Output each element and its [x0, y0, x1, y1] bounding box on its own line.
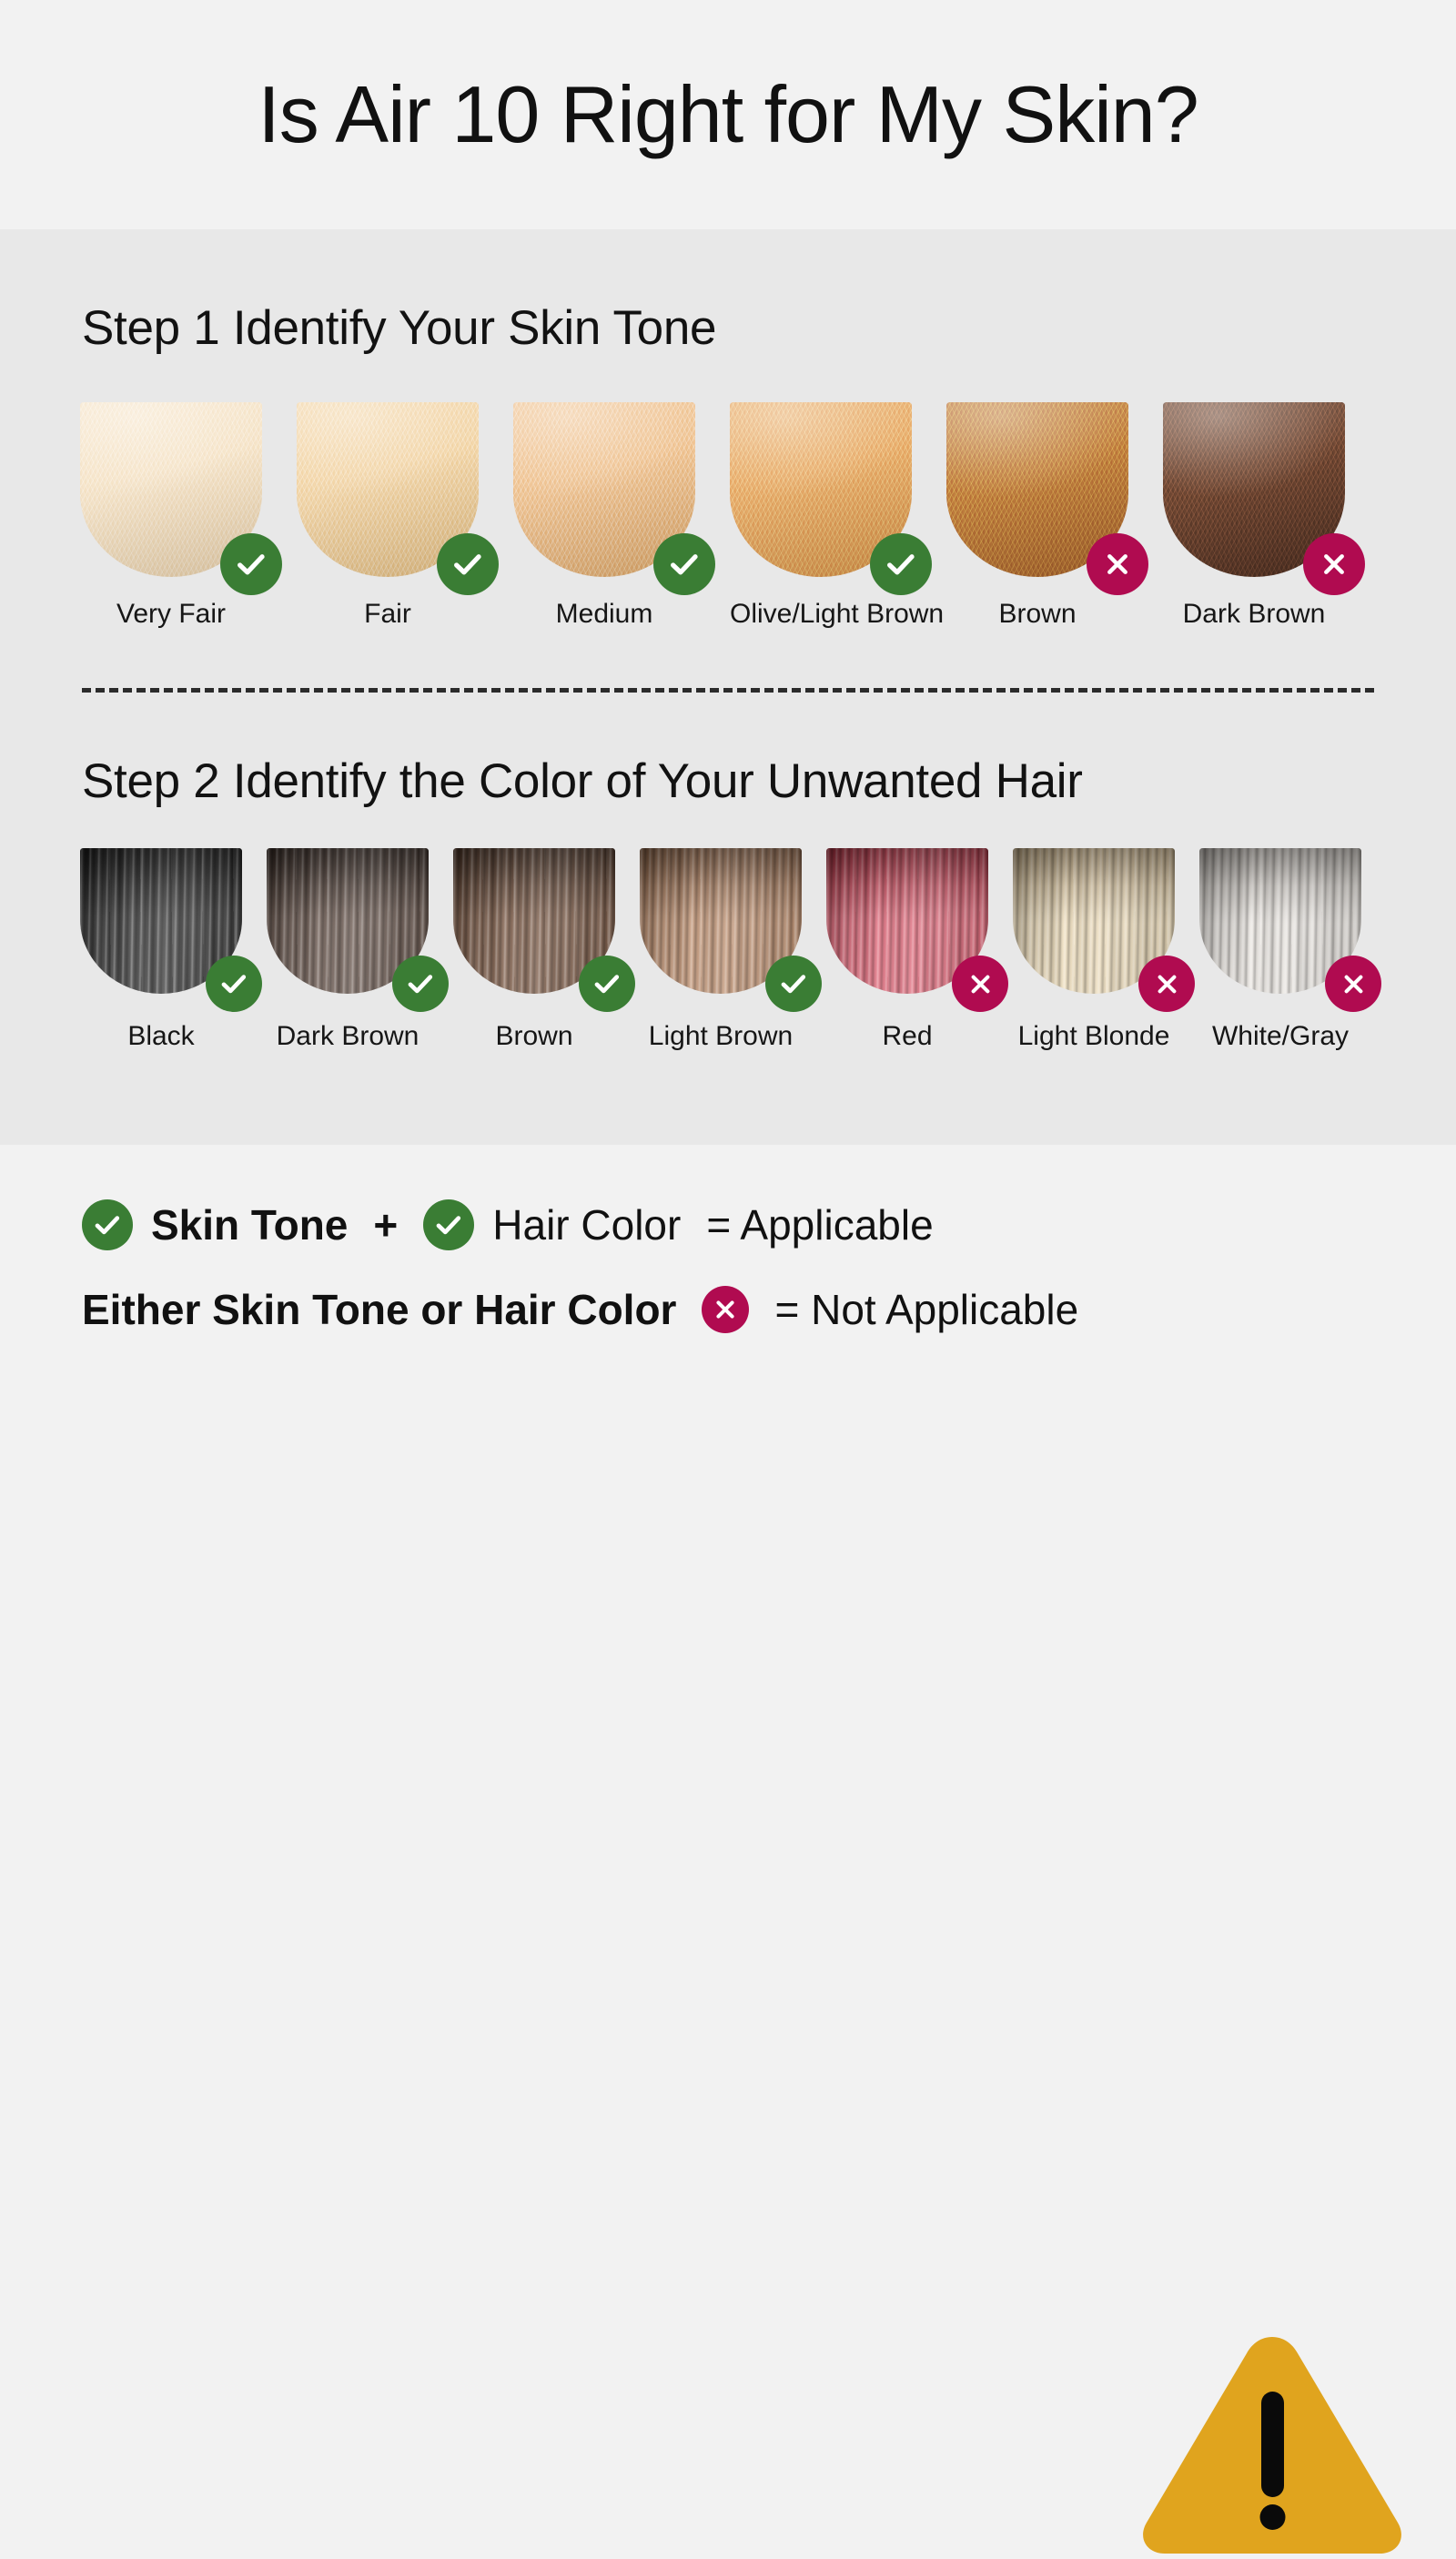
skin-tone-swatch-label: Fair — [297, 599, 479, 630]
skin-tone-swatch-cell[interactable]: Medium — [513, 402, 730, 577]
legend-plus-sign: + — [373, 1200, 398, 1249]
x-icon — [1325, 956, 1381, 1012]
legend-either-label: Either Skin Tone or Hair Color — [82, 1285, 676, 1334]
hair-color-swatch-row: BlackDark BrownBrownLight BrownRedLight … — [0, 848, 1456, 994]
page-title: Is Air 10 Right for My Skin? — [258, 75, 1198, 155]
skin-tone-swatch-label: Brown — [946, 599, 1128, 630]
warning-triangle-icon — [1136, 2311, 1409, 2559]
skin-tone-swatch-label: Medium — [513, 599, 695, 630]
step1-heading: Step 1 Identify Your Skin Tone — [82, 300, 716, 356]
infographic-page: Is Air 10 Right for My Skin? Step 1 Iden… — [0, 0, 1456, 1456]
skin-tone-swatch-cell[interactable]: Fair — [297, 402, 513, 577]
legend: Skin Tone + Hair Color = Applicable Eith… — [82, 1199, 1078, 1334]
x-icon — [1138, 956, 1195, 1012]
check-icon — [392, 956, 449, 1012]
check-icon — [653, 533, 715, 595]
hair-color-swatch-cell[interactable]: Light Brown — [640, 848, 826, 994]
skin-tone-swatch-label: Very Fair — [80, 599, 262, 630]
hair-color-swatch-label: White/Gray — [1199, 1021, 1361, 1052]
hair-color-swatch-cell[interactable]: Dark Brown — [267, 848, 453, 994]
x-icon — [1087, 533, 1148, 595]
check-icon — [220, 533, 282, 595]
legend-not-applicable-result: = Not Applicable — [774, 1285, 1078, 1334]
section-divider — [82, 688, 1374, 693]
check-icon — [206, 956, 262, 1012]
legend-hair-color-label: Hair Color — [492, 1200, 681, 1249]
skin-tone-swatch-cell[interactable]: Brown — [946, 402, 1163, 577]
x-icon — [1303, 533, 1365, 595]
hair-color-swatch-cell[interactable]: Red — [826, 848, 1013, 994]
x-icon — [702, 1286, 749, 1333]
check-icon — [82, 1199, 133, 1250]
legend-applicable-result: = Applicable — [706, 1200, 933, 1249]
skin-tone-swatch-cell[interactable]: Olive/Light Brown — [730, 402, 946, 577]
hair-color-swatch-cell[interactable]: Black — [80, 848, 267, 994]
legend-line-applicable: Skin Tone + Hair Color = Applicable — [82, 1199, 1078, 1250]
legend-skin-tone-label: Skin Tone — [151, 1200, 348, 1249]
skin-tone-swatch-row: Very FairFairMediumOlive/Light BrownBrow… — [0, 402, 1456, 577]
legend-line-not-applicable: Either Skin Tone or Hair Color = Not App… — [82, 1285, 1078, 1334]
hair-color-swatch-label: Brown — [453, 1021, 615, 1052]
legend-footer: Skin Tone + Hair Color = Applicable Eith… — [0, 1145, 1456, 1456]
skin-tone-swatch-cell[interactable]: Very Fair — [80, 402, 297, 577]
check-icon — [437, 533, 499, 595]
hair-color-swatch-cell[interactable]: Light Blonde — [1013, 848, 1199, 994]
step2-heading: Step 2 Identify the Color of Your Unwant… — [82, 754, 1083, 809]
hair-color-swatch-cell[interactable]: White/Gray — [1199, 848, 1386, 994]
x-icon — [952, 956, 1008, 1012]
check-icon — [423, 1199, 474, 1250]
skin-tone-swatch-label: Dark Brown — [1163, 599, 1345, 630]
hair-color-swatch-label: Dark Brown — [267, 1021, 429, 1052]
check-icon — [579, 956, 635, 1012]
hair-color-swatch-cell[interactable]: Brown — [453, 848, 640, 994]
hair-color-swatch-label: Light Blonde — [1013, 1021, 1175, 1052]
check-icon — [870, 533, 932, 595]
steps-panel: Step 1 Identify Your Skin Tone Very Fair… — [0, 229, 1456, 1145]
header: Is Air 10 Right for My Skin? — [0, 0, 1456, 229]
hair-color-swatch-label: Black — [80, 1021, 242, 1052]
skin-tone-swatch-cell[interactable]: Dark Brown — [1163, 402, 1380, 577]
hair-color-swatch-label: Light Brown — [640, 1021, 802, 1052]
hair-color-swatch-label: Red — [826, 1021, 988, 1052]
check-icon — [765, 956, 822, 1012]
skin-tone-swatch-label: Olive/Light Brown — [730, 599, 912, 630]
